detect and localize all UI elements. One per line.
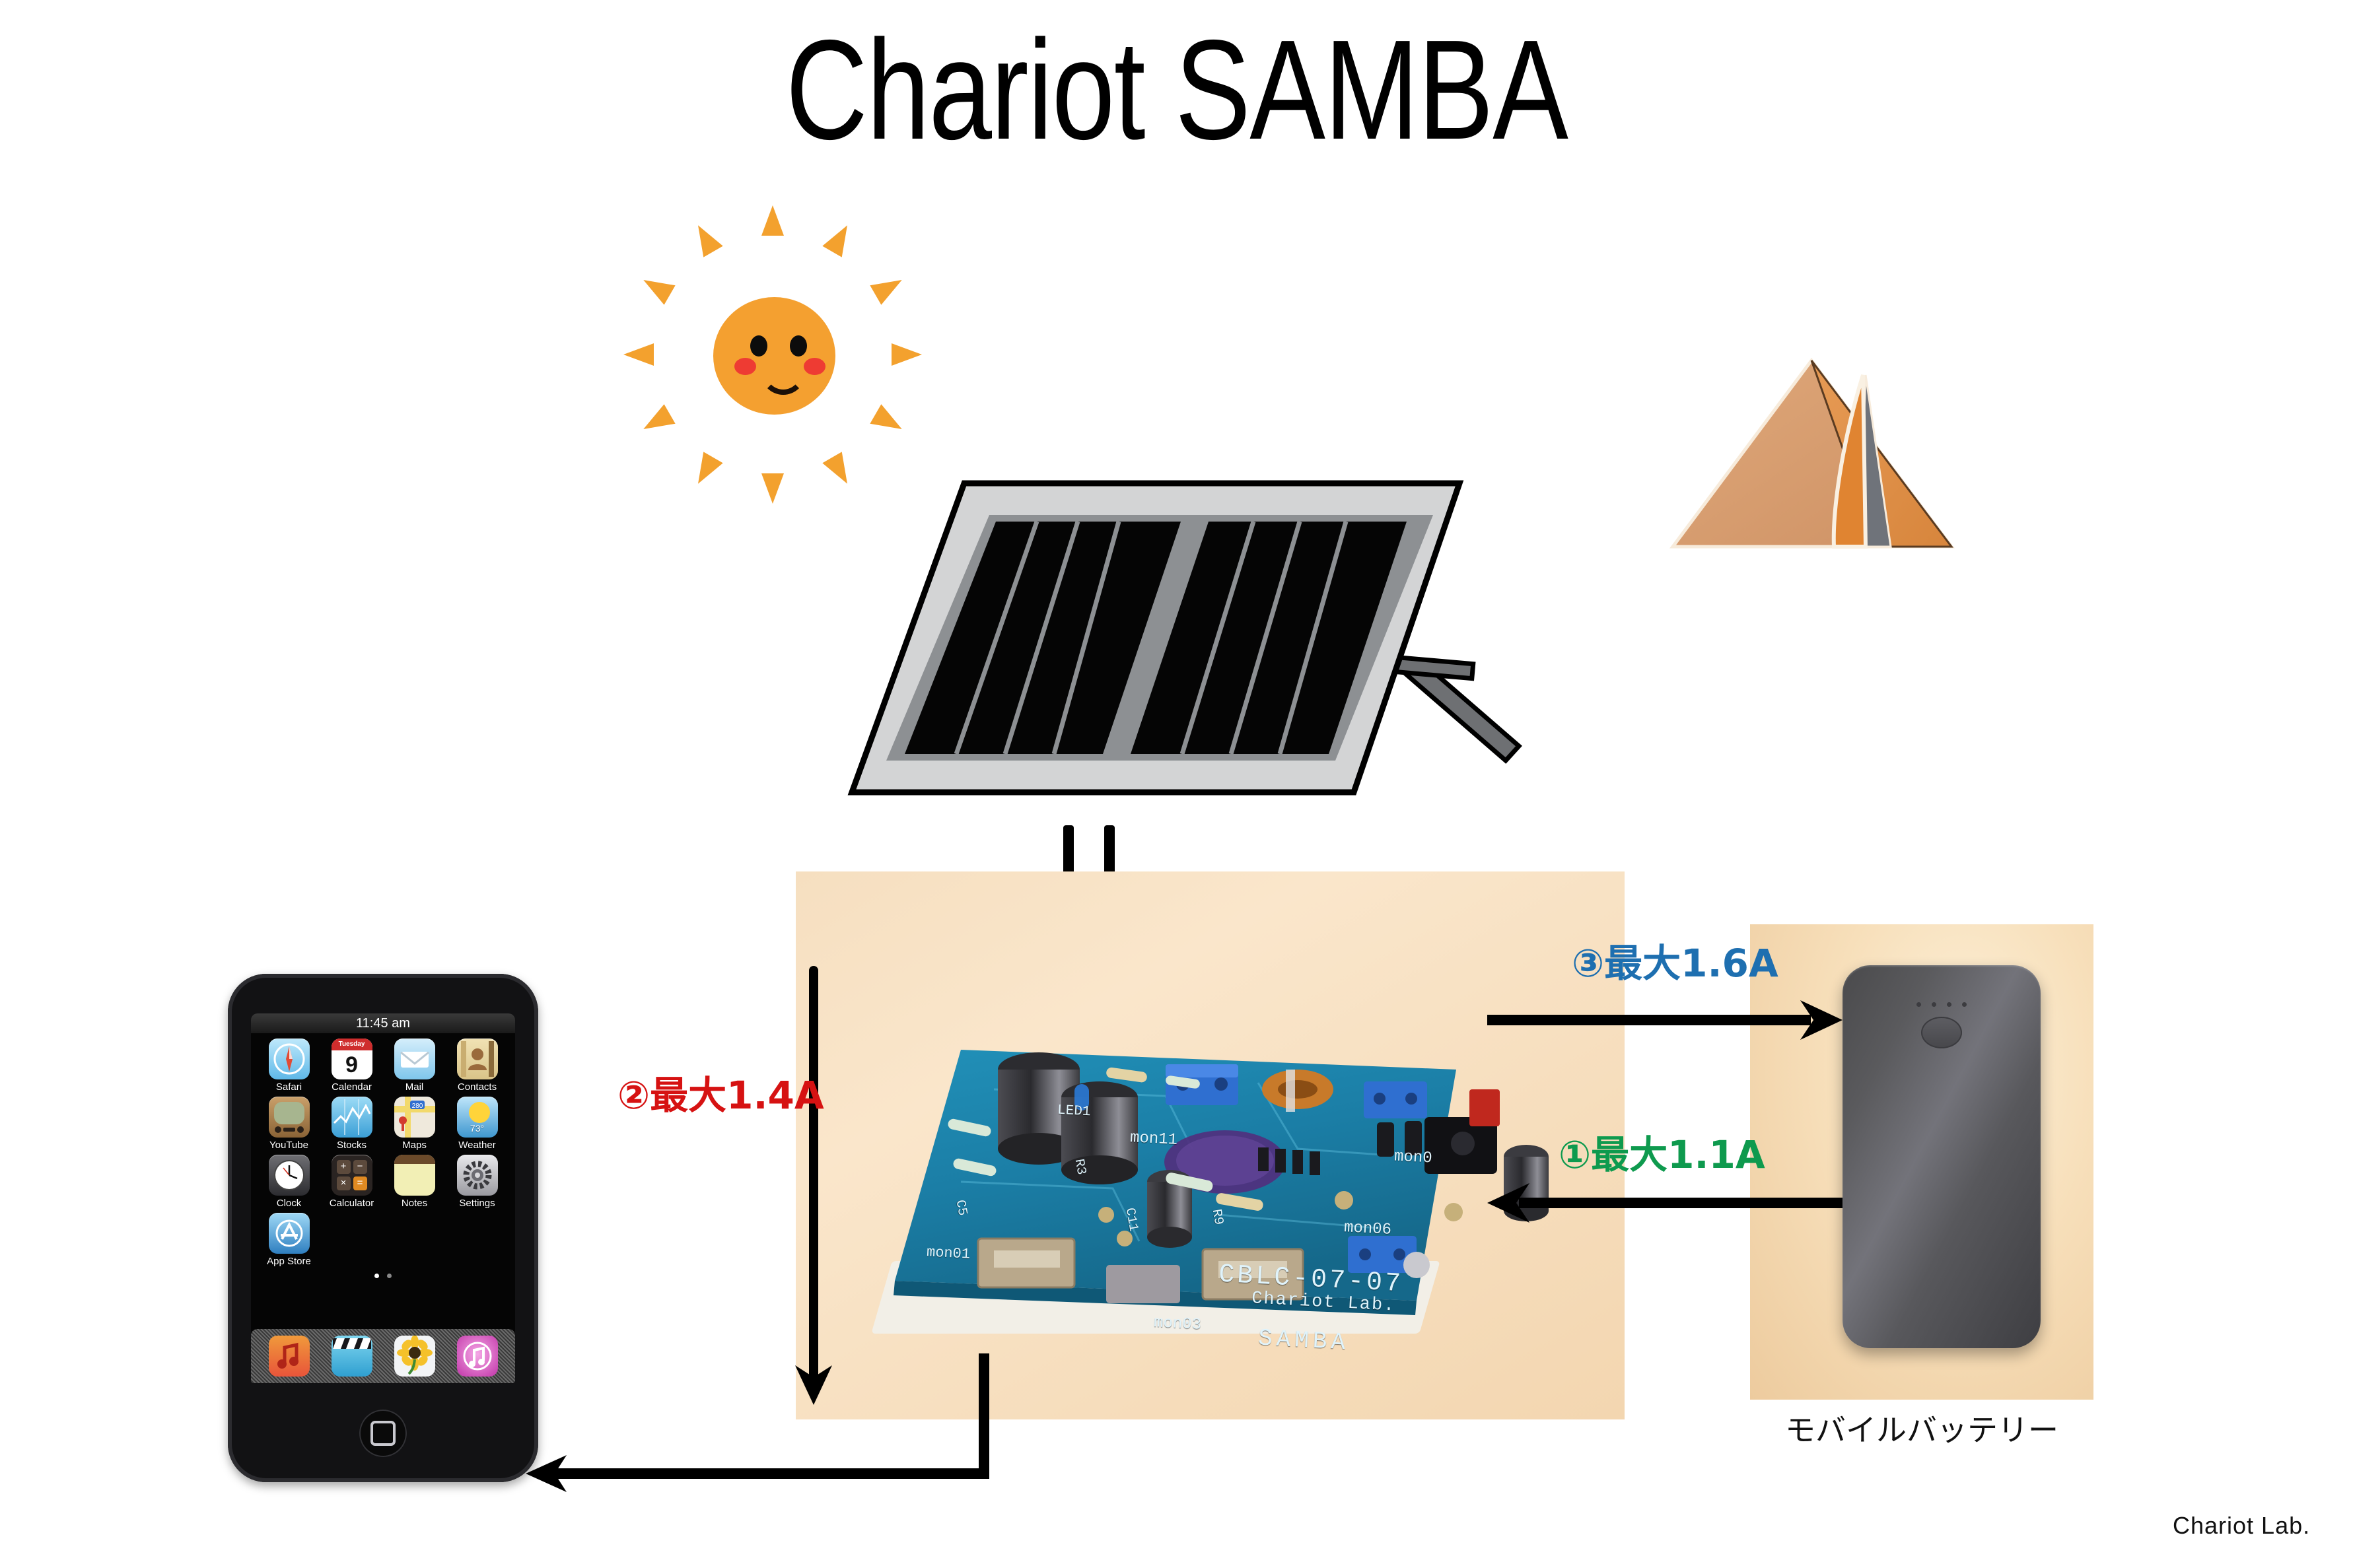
app-label: Mail <box>405 1081 424 1093</box>
mobile-battery-photo <box>1750 924 2093 1400</box>
sun-face <box>713 297 835 415</box>
calc-key-plus: + <box>337 1160 351 1174</box>
app-icon-safari[interactable]: Safari <box>260 1039 318 1093</box>
credit-text: Chariot Lab. <box>2173 1512 2310 1540</box>
annotation-label-3: ③最大1.6A <box>1572 932 1778 988</box>
tent-icon <box>1668 349 1958 566</box>
app-icon-app-store[interactable]: App Store <box>260 1213 318 1267</box>
app-icon-calculator[interactable]: + − × = Calculator <box>323 1155 380 1209</box>
home-button[interactable] <box>359 1410 407 1457</box>
sun-eye-right <box>790 335 807 357</box>
app-icon-clock[interactable]: Clock <box>260 1155 318 1209</box>
page-title: Chariot SAMBA <box>235 18 2117 160</box>
page-dot-2[interactable] <box>387 1274 392 1278</box>
gear-icon <box>457 1155 498 1196</box>
app-icon-contacts[interactable]: Contacts <box>448 1039 506 1093</box>
app-icon-settings[interactable]: Settings <box>448 1155 506 1209</box>
weather-temperature: 73° <box>457 1123 498 1134</box>
home-screen-app-grid: Safari Tuesday 9 Calendar Mail <box>251 1033 515 1267</box>
calendar-day-name: Tuesday <box>332 1039 372 1050</box>
app-icon-maps[interactable]: 280 Maps <box>386 1097 443 1151</box>
calculator-icon: + − × = <box>332 1155 372 1196</box>
sun-eye-left <box>750 335 767 357</box>
ipod-screen[interactable]: 11:45 am Safari Tuesday 9 Calendar <box>251 1013 515 1383</box>
sun-cloud-icon: 73° <box>457 1097 498 1138</box>
page-dot-1[interactable] <box>374 1274 379 1278</box>
app-label: App Store <box>267 1256 311 1267</box>
page-indicator-dots[interactable] <box>251 1274 515 1278</box>
app-icon-stocks[interactable]: Stocks <box>323 1097 380 1151</box>
ipod-touch-device[interactable]: 11:45 am Safari Tuesday 9 Calendar <box>228 974 538 1482</box>
calendar-icon: Tuesday 9 <box>332 1039 372 1079</box>
annotation-label-1: ①最大1.1A <box>1559 1124 1765 1179</box>
sunflower-icon[interactable] <box>394 1336 435 1377</box>
calc-key-times: × <box>337 1176 351 1190</box>
mobile-battery-caption: モバイルバッテリー <box>1750 1406 2093 1450</box>
battery-led-indicators <box>1916 1002 1967 1007</box>
compass-icon <box>269 1039 310 1079</box>
annotation-label-2: ②最大1.4A <box>617 1064 824 1120</box>
battery-power-button[interactable] <box>1921 1017 1962 1048</box>
calc-key-minus: − <box>353 1160 367 1174</box>
samba-board-photo: CBLC-07-07 Chariot Lab. SAMBA mon03 mon0… <box>796 871 1625 1419</box>
app-label: Clock <box>277 1198 302 1209</box>
calendar-day-number: 9 <box>332 1050 372 1079</box>
line-chart-icon <box>332 1097 372 1138</box>
address-book-icon <box>457 1039 498 1079</box>
app-label: Safari <box>276 1081 302 1093</box>
app-label: Calendar <box>332 1081 372 1093</box>
app-label: Calculator <box>330 1198 374 1209</box>
app-icon-calendar[interactable]: Tuesday 9 Calendar <box>323 1039 380 1093</box>
app-icon-mail[interactable]: Mail <box>386 1039 443 1093</box>
app-label: Notes <box>402 1198 427 1209</box>
tv-icon <box>269 1097 310 1138</box>
sun-smiling-icon <box>660 246 885 463</box>
calc-key-equals: = <box>353 1176 367 1190</box>
solar-panel-icon <box>839 462 1572 838</box>
app-label: Stocks <box>337 1140 367 1151</box>
app-icon-youtube[interactable]: YouTube <box>260 1097 318 1151</box>
ipod-dock <box>251 1329 515 1383</box>
app-label: Settings <box>459 1198 495 1209</box>
app-label: YouTube <box>269 1140 308 1151</box>
envelope-icon <box>394 1039 435 1079</box>
status-bar-time: 11:45 am <box>251 1013 515 1033</box>
app-label: Maps <box>402 1140 427 1151</box>
music-note-icon[interactable] <box>269 1336 310 1377</box>
sun-cheek-left <box>734 358 756 375</box>
app-store-icon <box>269 1213 310 1254</box>
notepad-icon <box>394 1155 435 1196</box>
map-icon: 280 <box>394 1097 435 1138</box>
app-icon-notes[interactable]: Notes <box>386 1155 443 1209</box>
app-label: Contacts <box>458 1081 497 1093</box>
clock-icon <box>269 1155 310 1196</box>
clapperboard-icon[interactable] <box>332 1336 372 1377</box>
maps-route-number: 280 <box>411 1103 423 1110</box>
app-icon-weather[interactable]: 73° Weather <box>448 1097 506 1151</box>
itunes-note-icon[interactable] <box>457 1336 498 1377</box>
mobile-battery-body <box>1843 965 2041 1348</box>
sun-cheek-right <box>804 358 825 375</box>
app-label: Weather <box>458 1140 495 1151</box>
